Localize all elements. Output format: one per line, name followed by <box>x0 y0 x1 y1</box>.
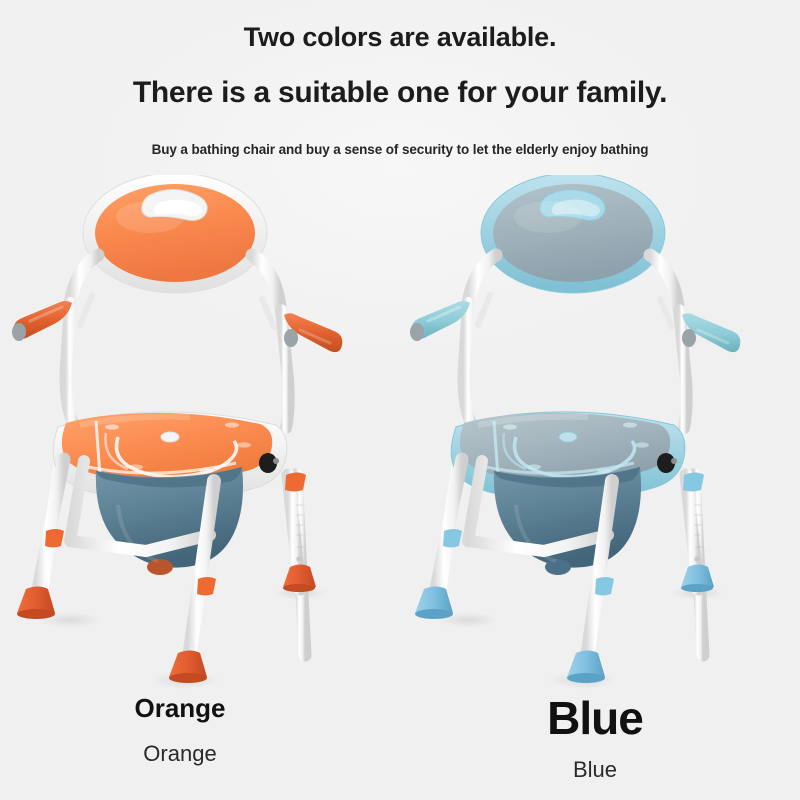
grip-end-cap <box>284 329 298 347</box>
product-stage <box>0 175 800 695</box>
commode-bucket[interactable] <box>494 467 641 575</box>
height-adjust-pin <box>296 556 301 561</box>
caption-orange: Orange Orange <box>30 695 330 765</box>
caption-subtitle-blue: Blue <box>445 759 745 781</box>
grip-end-cap <box>12 323 26 341</box>
caption-block: Orange Orange Blue Blue <box>0 695 800 800</box>
armrest-right[interactable] <box>682 313 740 352</box>
seat-center-hole <box>161 432 179 442</box>
heading-block: Two colors are available. There is a sui… <box>0 0 800 157</box>
caption-title-orange: Orange <box>30 695 330 721</box>
chair-illustration-orange <box>0 175 400 695</box>
marketing-subline: Buy a bathing chair and buy a sense of s… <box>0 142 800 157</box>
headline-primary: Two colors are available. <box>0 20 800 54</box>
backrest <box>481 175 665 293</box>
caption-blue: Blue Blue <box>445 695 745 781</box>
height-adjust-pin <box>694 556 699 561</box>
chair-illustration-blue <box>398 175 798 695</box>
commode-bucket[interactable] <box>96 467 243 575</box>
backrest <box>83 175 267 293</box>
product-poster: Two colors are available. There is a sui… <box>0 0 800 800</box>
product-blue[interactable] <box>398 175 798 695</box>
bucket-drain-foot <box>545 559 571 575</box>
product-orange[interactable] <box>0 175 400 695</box>
bucket-drain-foot <box>147 559 173 575</box>
grip-end-cap <box>410 323 424 341</box>
seat-center-hole <box>559 432 577 442</box>
grip-end-cap <box>682 329 696 347</box>
caption-title-blue: Blue <box>445 695 745 741</box>
headline-secondary: There is a suitable one for your family. <box>0 74 800 112</box>
armrest-right[interactable] <box>284 313 342 352</box>
caption-subtitle-orange: Orange <box>30 743 330 765</box>
